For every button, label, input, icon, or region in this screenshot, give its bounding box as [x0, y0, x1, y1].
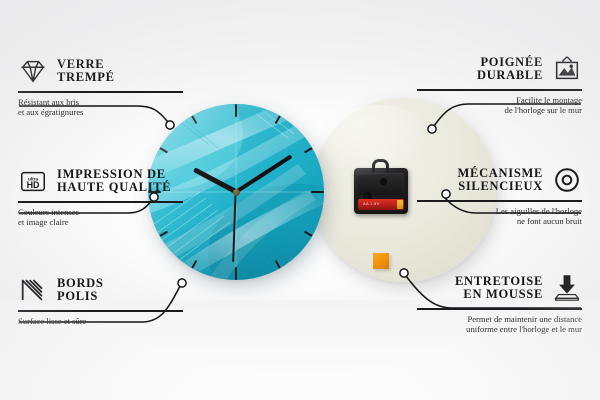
callout-bords-polis: BORDS POLIS Surface lisse et sûre — [18, 275, 183, 326]
callout-description: Facilite le montage de l'horloge sur le … — [417, 95, 582, 116]
hanging-loop-icon — [372, 159, 389, 172]
clock-mechanism: AA 1.5V — [354, 168, 408, 214]
callout-rule — [417, 200, 582, 202]
battery-cap-icon — [397, 200, 403, 209]
battery-label: AA 1.5V — [363, 201, 380, 206]
battery: AA 1.5V — [358, 199, 404, 210]
callout-title: ENTRETOISE EN MOUSSE — [455, 275, 543, 302]
callout-description: Les aiguilles de l'horloge ne font aucun… — [417, 206, 582, 227]
callout-rule — [18, 310, 183, 312]
callout-title: IMPRESSION DE HAUTE QUALITÉ — [57, 168, 171, 195]
callout-rule — [18, 201, 183, 203]
svg-text:HD: HD — [27, 180, 40, 190]
callout-description: Couleurs intenses et image claire — [18, 207, 183, 228]
mechanism-port-icon — [380, 178, 387, 185]
foam-spacer — [373, 253, 389, 269]
callout-entretoise-en-mousse: ENTRETOISE EN MOUSSE Permet de maintenir… — [417, 273, 582, 335]
callout-description: Permet de maintenir une distance uniform… — [417, 314, 582, 335]
infographic-canvas: AA 1.5V — [0, 0, 600, 400]
polished-edges-icon — [18, 275, 48, 305]
callout-title: BORDS POLIS — [57, 277, 104, 304]
picture-frame-icon — [552, 54, 582, 84]
callout-verre-trempe: VERRE TREMPÉ Résistant aux bris et aux é… — [18, 56, 183, 118]
clock-center-cap — [233, 189, 240, 196]
callout-description: Surface lisse et sûre — [18, 316, 183, 327]
ultra-hd-icon: ultra HD — [18, 166, 48, 196]
callout-impression-haute-qualite: ultra HD IMPRESSION DE HAUTE QUALITÉ Cou… — [18, 166, 183, 228]
callout-rule — [417, 308, 582, 310]
callout-title: MÉCANISME SILENCIEUX — [458, 167, 543, 194]
callout-poignee-durable: POIGNÉE DURABLE Facilite le montage de l… — [417, 54, 582, 116]
diamond-icon — [18, 56, 48, 86]
callout-title: POIGNÉE DURABLE — [477, 56, 543, 83]
callout-title: VERRE TREMPÉ — [57, 58, 115, 85]
gear-icon — [552, 165, 582, 195]
callout-mecanisme-silencieux: MÉCANISME SILENCIEUX Les aiguilles de l'… — [417, 165, 582, 227]
callout-description: Résistant aux bris et aux égratignures — [18, 97, 183, 118]
callout-rule — [417, 89, 582, 91]
foam-spacer-icon — [552, 273, 582, 303]
callout-rule — [18, 91, 183, 93]
